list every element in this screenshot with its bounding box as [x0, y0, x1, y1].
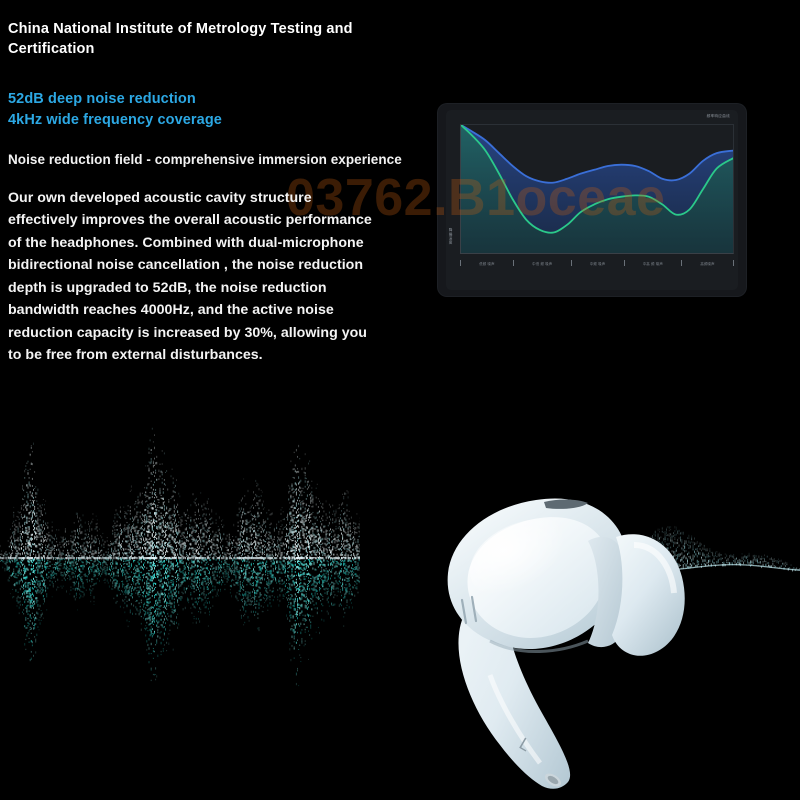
highlight-frequency-coverage: 4kHz wide frequency coverage [8, 110, 438, 131]
x-tick-0: 低频 噪声 [479, 261, 495, 266]
section-subheading: Noise reduction field - comprehensive im… [8, 151, 438, 170]
page-title: China National Institute of Metrology Te… [8, 0, 438, 59]
product-detail-page: China National Institute of Metrology Te… [0, 0, 800, 800]
chart-title: 频率响应曲线 [707, 114, 730, 119]
chart-x-axis: 低频 噪声 中低 频 噪声 中频 噪声 中高 频 噪声 高频噪声 [460, 260, 734, 266]
tablet-device: 频率响应曲线 降噪深度 [438, 104, 746, 296]
axis-separator-icon [681, 260, 682, 266]
chart-plot-area [460, 124, 734, 254]
highlight-noise-reduction: 52dB deep noise reduction [8, 89, 438, 110]
x-tick-3: 中高 频 噪声 [643, 261, 663, 266]
text-content-column: China National Institute of Metrology Te… [8, 0, 438, 381]
noise-reduction-curve-chart [461, 125, 733, 253]
x-tick-1: 中低 频 噪声 [532, 261, 552, 266]
body-paragraph: Our own developed acoustic cavity struct… [8, 187, 380, 367]
axis-separator-icon [624, 260, 625, 266]
earbud-product-image: L [340, 445, 740, 800]
ear-tip [612, 534, 685, 656]
axis-separator-icon [460, 260, 461, 266]
tablet-screen: 频率响应曲线 降噪深度 [446, 110, 738, 290]
chart-y-axis-label: 降噪深度 [449, 228, 454, 244]
axis-separator-icon [571, 260, 572, 266]
audio-waveform-visualization [0, 398, 360, 698]
axis-separator-icon [513, 260, 514, 266]
highlight-list: 52dB deep noise reduction 4kHz wide freq… [8, 89, 438, 131]
axis-separator-icon [733, 260, 734, 266]
x-tick-2: 中频 噪声 [590, 261, 606, 266]
x-tick-4: 高频噪声 [700, 261, 714, 266]
